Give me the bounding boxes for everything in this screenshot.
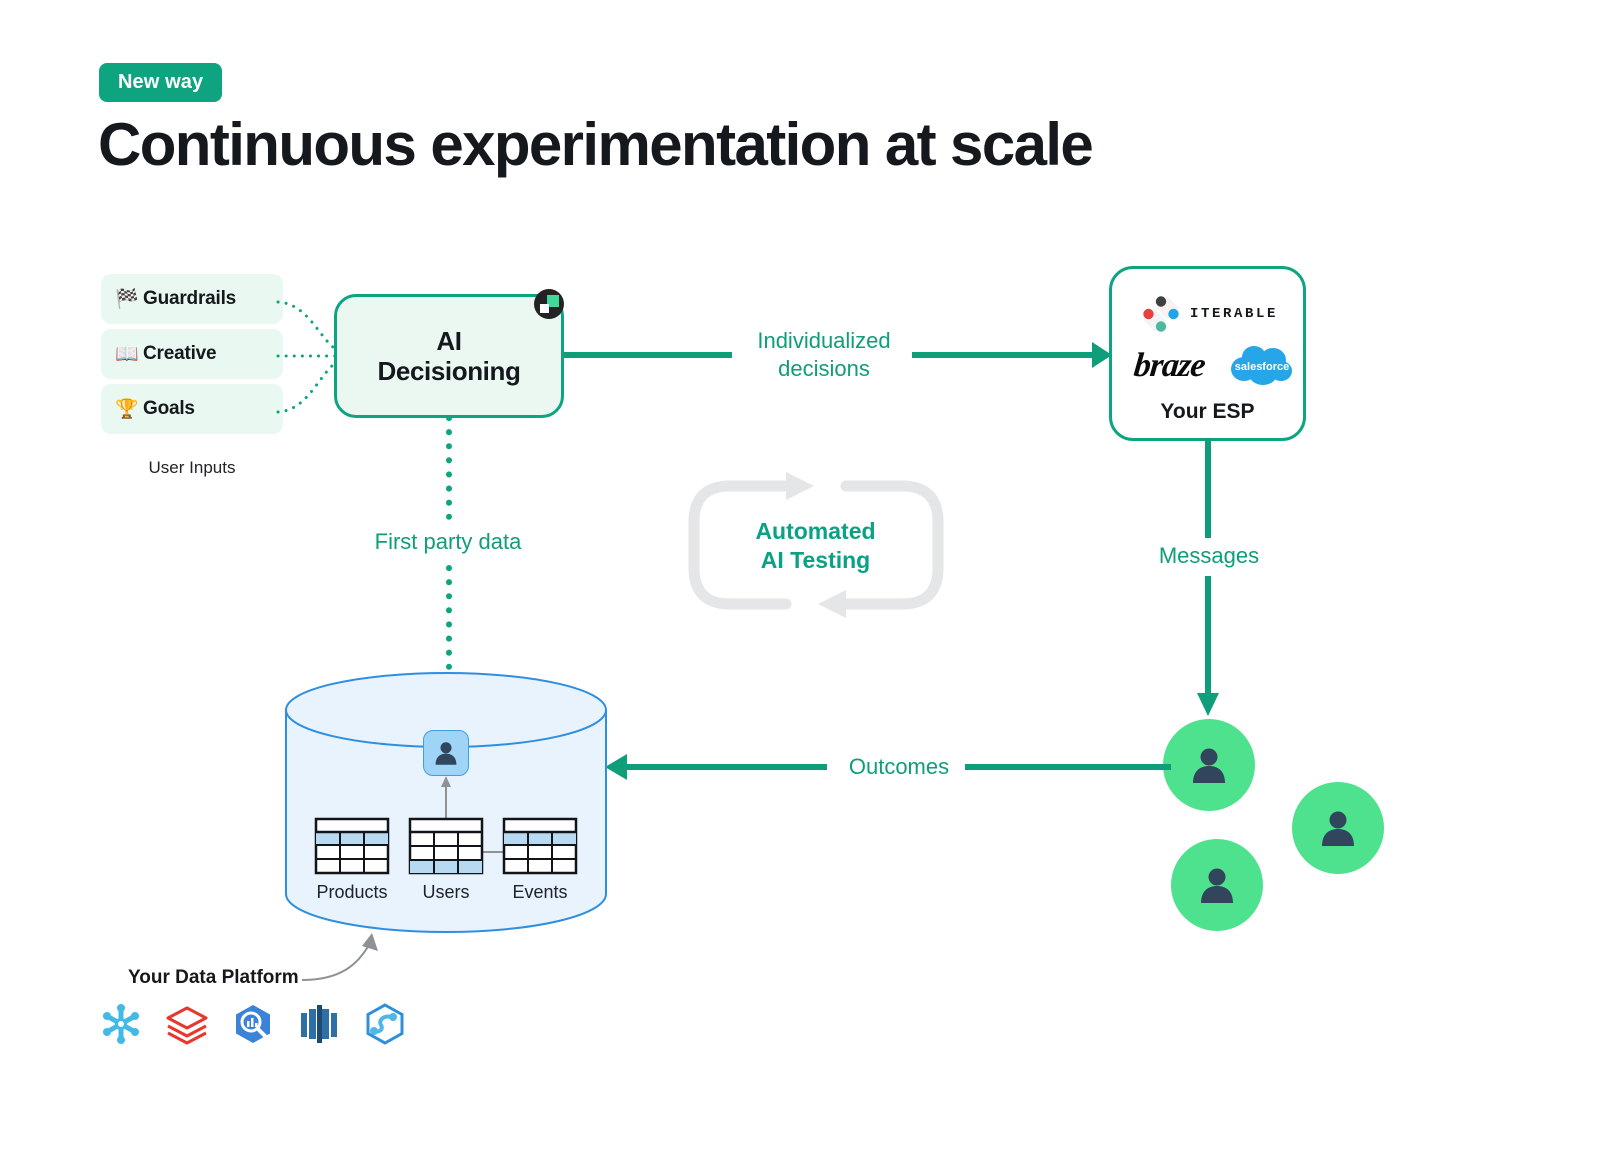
salesforce-logo-icon: salesforce [1230, 343, 1294, 388]
data-platform-pointer-arrow [300, 925, 390, 985]
automated-testing-line2: AI Testing [761, 547, 870, 573]
page-title: Continuous experimentation at scale [98, 110, 1092, 179]
table-icon [409, 818, 483, 874]
user-input-goals[interactable]: 🏆 Goals [101, 384, 283, 434]
outcomes-label: Outcomes [833, 753, 965, 781]
esp-node[interactable]: ITERABLE braze salesforce Your ESP [1109, 266, 1306, 441]
diagram-canvas: New way Continuous experimentation at sc… [0, 0, 1600, 1160]
person-icon [1189, 745, 1229, 785]
ai-decisioning-line1: AI [436, 326, 461, 356]
automated-testing-label: Automated AI Testing [718, 517, 913, 575]
iterable-wordmark: ITERABLE [1190, 306, 1278, 322]
amplitude-logo-white-square [540, 304, 549, 313]
user-input-label: Goals [143, 398, 195, 420]
iterable-logo-row: ITERABLE [1142, 295, 1278, 333]
user-input-creative[interactable]: 📖 Creative [101, 329, 283, 379]
iterable-logo-icon [1142, 295, 1180, 333]
db-table-label: Users [409, 882, 483, 903]
trophy-icon: 🏆 [115, 400, 143, 419]
amplitude-logo-icon [534, 289, 564, 319]
person-icon [1318, 808, 1358, 848]
user-input-guardrails[interactable]: 🏁 Guardrails [101, 274, 283, 324]
redshift-logo-icon [295, 1000, 343, 1048]
braze-wordmark: braze [1132, 347, 1207, 385]
ai-decisioning-node[interactable]: AI Decisioning [334, 294, 564, 418]
user-input-label: Guardrails [143, 288, 236, 310]
bigquery-logo-icon [229, 1000, 277, 1048]
flow-label-line1: Individualized [757, 328, 890, 353]
snowflake-logo-icon [97, 1000, 145, 1048]
ai-decisioning-label: AI Decisioning [378, 326, 521, 386]
data-platform-cylinder: Products Users [285, 672, 607, 932]
person-icon [1197, 865, 1237, 905]
person-circle-3 [1171, 839, 1263, 931]
user-inputs-caption: User Inputs [101, 458, 283, 478]
user-input-label: Creative [143, 343, 216, 365]
ai-decisioning-line2: Decisioning [378, 356, 521, 386]
db-table-products: Products [315, 818, 389, 903]
person-circle-2 [1292, 782, 1384, 874]
db-table-label: Products [315, 882, 389, 903]
db-table-events: Events [503, 818, 577, 903]
first-party-data-label: First party data [358, 528, 538, 556]
salesforce-wordmark: salesforce [1235, 361, 1289, 373]
data-platform-logos [97, 1000, 409, 1048]
db-tables-row: Products Users [315, 818, 577, 903]
db-table-label: Events [503, 882, 577, 903]
table-icon [503, 818, 577, 874]
flow-label-line2: decisions [778, 356, 870, 381]
databricks-logo-icon [163, 1000, 211, 1048]
checkered-flag-icon: 🏁 [115, 290, 143, 309]
messages-label: Messages [1148, 542, 1270, 570]
user-inputs-group: 🏁 Guardrails 📖 Creative 🏆 Goals [101, 274, 283, 439]
user-avatar-icon [423, 730, 469, 776]
avatar-users-connector [440, 776, 452, 822]
individualized-decisions-label: Individualized decisions [737, 327, 911, 382]
new-way-badge: New way [99, 63, 222, 102]
table-icon [315, 818, 389, 874]
esp-caption: Your ESP [1112, 400, 1303, 424]
data-platform-caption: Your Data Platform [128, 967, 299, 989]
automated-testing-line1: Automated [755, 518, 875, 544]
messages-arrow [1197, 438, 1221, 718]
open-book-icon: 📖 [115, 345, 143, 364]
person-icon [433, 740, 459, 766]
db-table-users: Users [409, 818, 483, 903]
synapse-logo-icon [361, 1000, 409, 1048]
person-circle-1 [1163, 719, 1255, 811]
